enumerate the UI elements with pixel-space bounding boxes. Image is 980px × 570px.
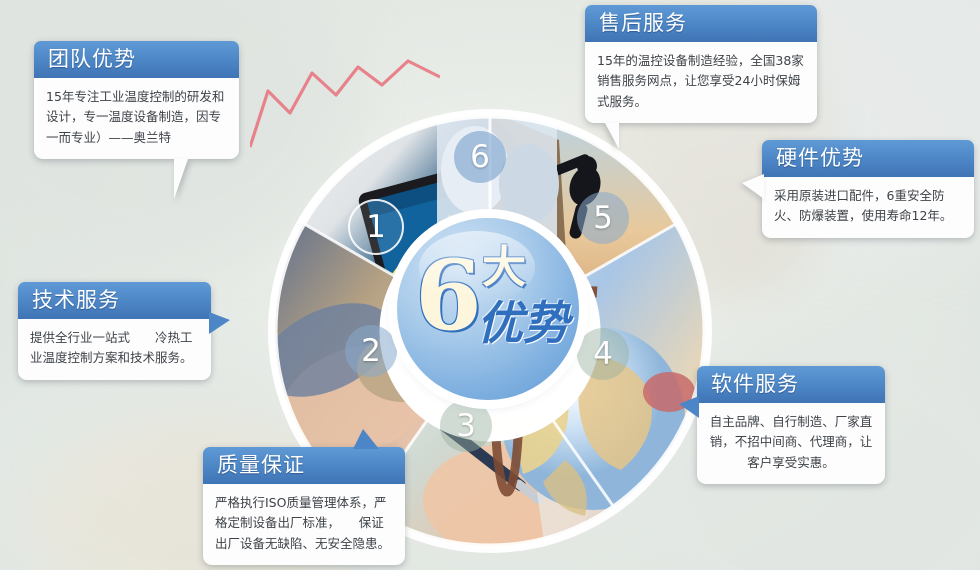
callout-tail-technical bbox=[209, 312, 230, 334]
callout-tail-hardware bbox=[742, 174, 764, 199]
card-title-software: 软件服务 bbox=[697, 366, 885, 403]
card-body-quality: 严格执行ISO质量管理体系，严格定制设备出厂标准， 保证出厂设备无缺陷、无安全隐… bbox=[203, 484, 405, 565]
callout-card-technical[interactable]: 技术服务 提供全行业一站式 冷热工业温度控制方案和技术服务。 bbox=[18, 282, 211, 380]
wheel-badge-6[interactable]: 6 bbox=[454, 131, 506, 183]
card-title-hardware: 硬件优势 bbox=[762, 140, 974, 177]
callout-card-quality[interactable]: 质量保证 严格执行ISO质量管理体系，严格定制设备出厂标准， 保证出厂设备无缺陷… bbox=[203, 447, 405, 565]
card-body-software: 自主品牌、自行制造、厂家直销，不招中间商、代理商，让客户享受实惠。 bbox=[697, 403, 885, 484]
center-advantage-word: 优势 bbox=[477, 300, 569, 346]
center-emblem: 6 大 优势 bbox=[397, 218, 579, 400]
callout-card-hardware[interactable]: 硬件优势 采用原装进口配件，6重安全防火、防爆装置，使用寿命12年。 bbox=[762, 140, 974, 238]
wheel-badge-2[interactable]: 2 bbox=[345, 325, 397, 377]
center-unit-character: 大 bbox=[482, 246, 526, 290]
callout-tail-after-sales bbox=[605, 123, 619, 149]
callout-card-team[interactable]: 团队优势 15年专注工业温度控制的研发和设计，专一温度设备制造，因专一而专业）—… bbox=[34, 41, 239, 159]
card-body-technical: 提供全行业一站式 冷热工业温度控制方案和技术服务。 bbox=[18, 319, 211, 380]
card-title-quality: 质量保证 bbox=[203, 447, 405, 484]
infographic-canvas: 1 2 3 4 5 6 6 大 优势 团队优势 15年专注工业温度控制的研发和设… bbox=[0, 0, 980, 570]
callout-tail-quality bbox=[353, 429, 379, 449]
callout-card-software[interactable]: 软件服务 自主品牌、自行制造、厂家直销，不招中间商、代理商，让客户享受实惠。 bbox=[697, 366, 885, 484]
card-title-team: 团队优势 bbox=[34, 41, 239, 78]
wheel-badge-3[interactable]: 3 bbox=[440, 400, 492, 452]
center-number: 6 bbox=[415, 248, 482, 344]
wheel-badge-5[interactable]: 5 bbox=[577, 192, 629, 244]
card-body-hardware: 采用原装进口配件，6重安全防火、防爆装置，使用寿命12年。 bbox=[762, 177, 974, 238]
callout-tail-team bbox=[174, 159, 188, 199]
card-body-team: 15年专注工业温度控制的研发和设计，专一温度设备制造，因专一而专业）——奥兰特 bbox=[34, 78, 239, 159]
callout-tail-software bbox=[679, 396, 699, 418]
wheel-badge-1[interactable]: 1 bbox=[348, 199, 404, 255]
card-body-after-sales: 15年的温控设备制造经验，全国38家销售服务网点，让您享受24小时保姆式服务。 bbox=[585, 42, 817, 123]
card-title-after-sales: 售后服务 bbox=[585, 5, 817, 42]
callout-card-after-sales[interactable]: 售后服务 15年的温控设备制造经验，全国38家销售服务网点，让您享受24小时保姆… bbox=[585, 5, 817, 123]
wheel-badge-4[interactable]: 4 bbox=[577, 328, 629, 380]
card-title-technical: 技术服务 bbox=[18, 282, 211, 319]
